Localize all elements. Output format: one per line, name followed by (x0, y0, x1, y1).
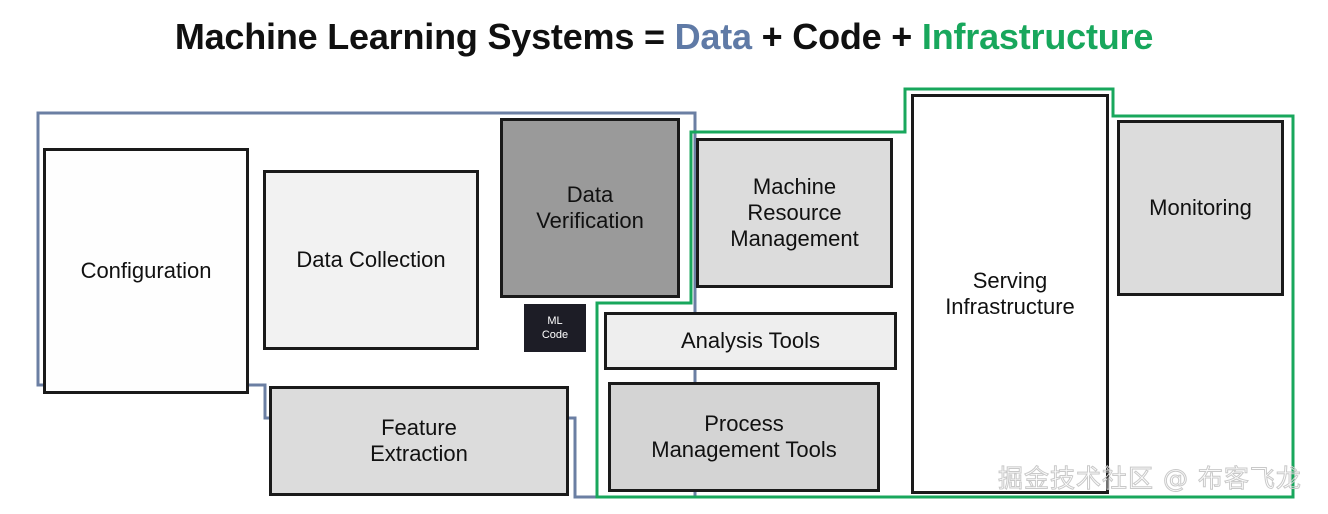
watermark: 掘金技术社区 @ 布客飞龙 (998, 459, 1302, 495)
box-feature-extraction[interactable]: Feature Extraction (269, 386, 569, 496)
box-monitoring[interactable]: Monitoring (1117, 120, 1284, 296)
box-serving-infrastructure[interactable]: Serving Infrastructure (911, 94, 1109, 494)
diagram-canvas: Machine Learning Systems = Data + Code +… (0, 0, 1328, 514)
box-data-verification[interactable]: Data Verification (500, 118, 680, 298)
box-data-collection[interactable]: Data Collection (263, 170, 479, 350)
box-machine-resource-management[interactable]: Machine Resource Management (696, 138, 893, 288)
box-analysis-tools[interactable]: Analysis Tools (604, 312, 897, 370)
box-ml-code[interactable]: ML Code (524, 304, 586, 352)
box-configuration[interactable]: Configuration (43, 148, 249, 394)
box-process-management-tools[interactable]: Process Management Tools (608, 382, 880, 492)
